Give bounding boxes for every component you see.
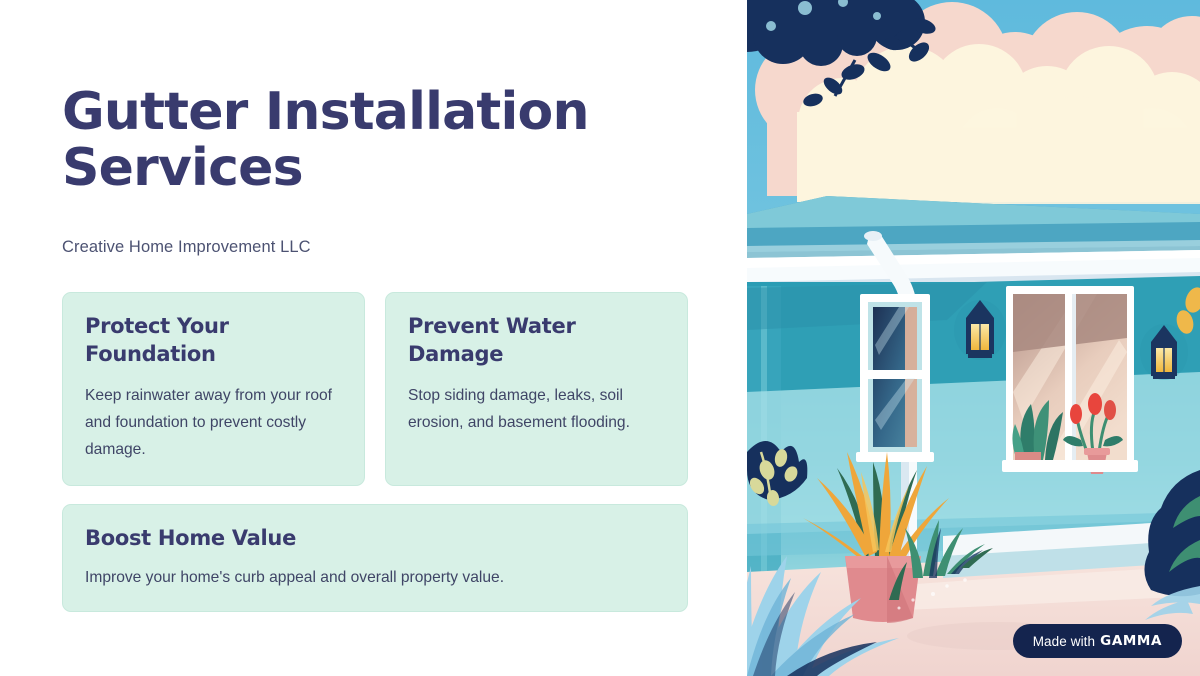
large-window	[1002, 286, 1138, 474]
feature-cards: Protect Your Foundation Keep rainwater a…	[62, 292, 688, 612]
subtitle: Creative Home Improvement LLC	[62, 238, 747, 257]
house-illustration-svg	[747, 0, 1200, 676]
slide: Gutter Installation Services Creative Ho…	[0, 0, 1200, 676]
small-window	[856, 294, 934, 462]
wall-lantern-right	[1140, 324, 1188, 380]
house-illustration: Made with GAMMA	[747, 0, 1200, 676]
card-title: Protect Your Foundation	[85, 313, 342, 368]
card-title: Prevent Water Damage	[408, 313, 665, 368]
page-title: Gutter Installation Services	[62, 84, 662, 196]
badge-brand-label: GAMMA	[1100, 633, 1162, 649]
feature-card-boost-home-value: Boost Home Value Improve your home's cur…	[62, 504, 688, 612]
card-body: Stop siding damage, leaks, soil erosion,…	[408, 382, 665, 436]
card-row-top: Protect Your Foundation Keep rainwater a…	[62, 292, 688, 486]
card-title: Boost Home Value	[85, 525, 665, 553]
wall-lantern-left	[954, 300, 1006, 360]
content-pane: Gutter Installation Services Creative Ho…	[0, 0, 747, 676]
made-with-gamma-badge[interactable]: Made with GAMMA	[1013, 624, 1182, 658]
badge-made-label: Made with	[1033, 634, 1095, 649]
feature-card-protect-your-foundation: Protect Your Foundation Keep rainwater a…	[62, 292, 365, 486]
card-body: Keep rainwater away from your roof and f…	[85, 382, 342, 463]
card-body: Improve your home's curb appeal and over…	[85, 564, 665, 591]
feature-card-prevent-water-damage: Prevent Water Damage Stop siding damage,…	[385, 292, 688, 486]
